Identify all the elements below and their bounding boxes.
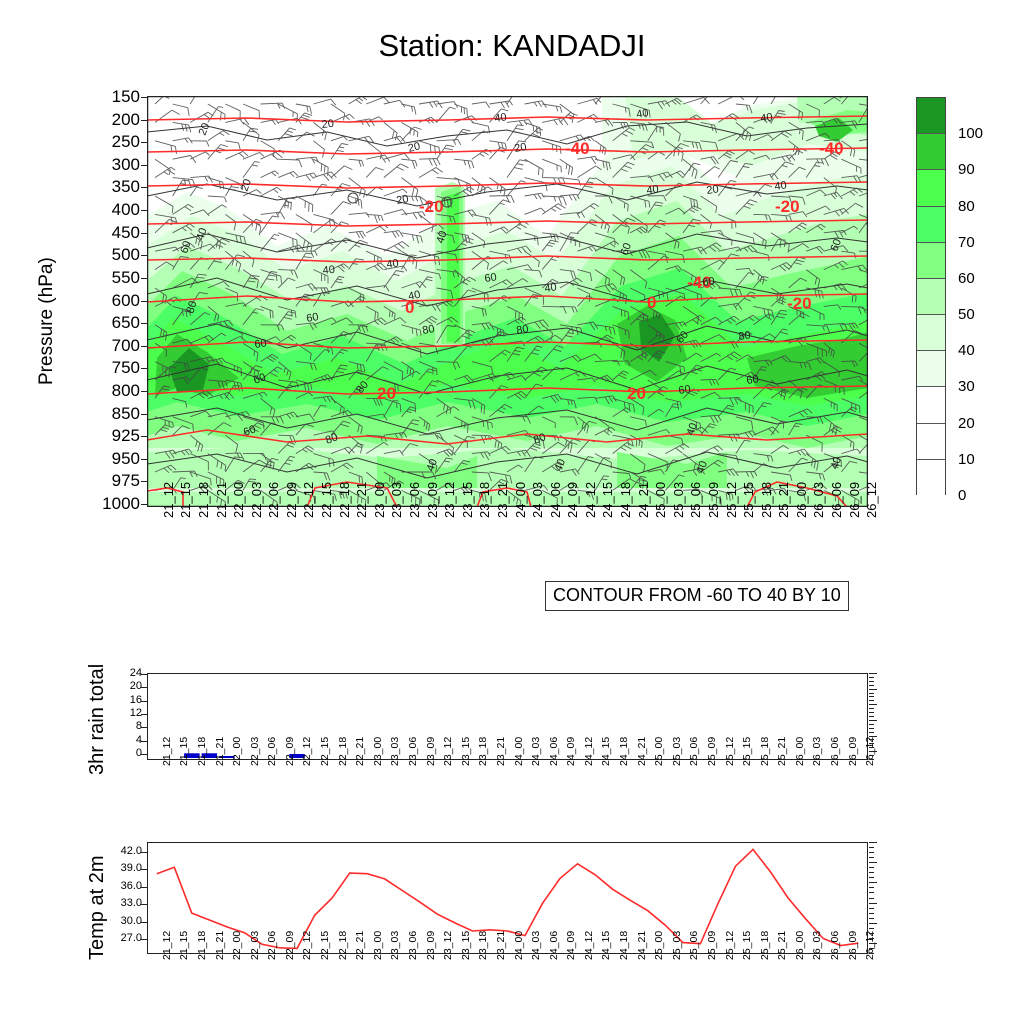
x-axis-tick: 23_06 — [407, 482, 422, 518]
svg-text:-20: -20 — [787, 294, 812, 313]
colorbar-label: 40 — [958, 343, 975, 358]
x-axis-tick: 26_06 — [829, 931, 841, 960]
x-axis-tick: 23_21 — [495, 482, 510, 518]
main-y-tick: 650 — [78, 314, 140, 331]
x-axis-tick: 22_06 — [266, 482, 281, 518]
svg-text:80: 80 — [738, 329, 752, 343]
x-axis-tick: 24_15 — [600, 482, 615, 518]
rain-y-tick: 16 — [118, 695, 142, 706]
x-axis-tick: 24_12 — [583, 931, 595, 960]
temp-y-tick: 36.0 — [104, 881, 142, 892]
panel-right-tickmark — [869, 903, 877, 904]
temp-y-tick: 39.0 — [104, 863, 142, 874]
colorbar-label: 70 — [958, 235, 975, 250]
svg-text:20: 20 — [321, 118, 334, 131]
x-axis-tick: 21_15 — [178, 737, 190, 766]
colorbar-swatch — [917, 387, 945, 423]
x-axis-tick: 24_18 — [618, 931, 630, 960]
x-axis-tick: 21_21 — [214, 931, 226, 960]
panel-right-tickmark — [869, 872, 874, 873]
temp-y-tick: 27.0 — [104, 933, 142, 944]
panel-right-tickmark — [869, 685, 874, 686]
panel-right-tickmark — [869, 696, 874, 697]
x-axis-tick: 24_09 — [565, 737, 577, 766]
svg-text:40: 40 — [494, 111, 508, 125]
rain-y-tick: 24 — [118, 668, 142, 679]
panel-right-tickmark — [869, 928, 874, 929]
x-axis-tick: 23_12 — [442, 482, 457, 518]
x-axis-tick: 22_00 — [231, 931, 243, 960]
x-axis-tick: 25_15 — [741, 482, 756, 518]
x-axis-tick: 26_00 — [794, 931, 806, 960]
colorbar-label: 20 — [958, 416, 975, 431]
temp-y-tick: 42.0 — [104, 846, 142, 857]
svg-text:80: 80 — [421, 323, 435, 337]
svg-text:-20: -20 — [775, 197, 800, 216]
panel-right-tickmark — [869, 704, 877, 705]
colorbar-label: 0 — [958, 488, 966, 503]
panel-right-tickmark — [869, 908, 874, 909]
main-y-tick: 950 — [78, 450, 140, 467]
main-y-tick: 800 — [78, 382, 140, 399]
svg-text:60: 60 — [305, 311, 319, 325]
x-axis-tick: 24_21 — [636, 737, 648, 766]
x-axis-tick: 23_09 — [425, 737, 437, 766]
x-axis-tick: 21_18 — [196, 482, 211, 518]
x-axis-tick: 22_21 — [354, 931, 366, 960]
x-axis-tick: 22_03 — [249, 931, 261, 960]
colorbar-label: 100 — [958, 126, 983, 141]
x-axis-tick: 24_03 — [530, 482, 545, 518]
x-axis-tick: 24_00 — [513, 737, 525, 766]
x-axis-tick: 26_00 — [794, 482, 809, 518]
colorbar-swatch — [917, 170, 945, 206]
x-axis-tick: 26_09 — [847, 482, 862, 518]
x-axis-tick: 21_21 — [214, 737, 226, 766]
x-axis-tick: 22_18 — [337, 482, 352, 518]
x-axis-tick: 22_00 — [231, 737, 243, 766]
colorbar-swatch — [917, 207, 945, 243]
x-axis-tick: 25_00 — [653, 737, 665, 766]
panel-right-tickmark — [869, 953, 874, 954]
main-y-tick: 1000 — [78, 495, 140, 512]
x-axis-tick: 22_09 — [284, 737, 296, 766]
x-axis-tick: 25_09 — [706, 482, 721, 518]
x-axis-tick: 23_06 — [407, 931, 419, 960]
x-axis-tick: 25_12 — [724, 482, 739, 518]
colorbar-label: 90 — [958, 162, 975, 177]
panel-right-tickmark — [869, 759, 874, 760]
x-axis-tick: 22_15 — [319, 931, 331, 960]
page-title: Station: KANDADJI — [0, 28, 1024, 64]
x-axis-tick: 25_06 — [688, 482, 703, 518]
colorbar-swatch — [917, 351, 945, 387]
svg-text:40: 40 — [635, 107, 649, 121]
panel-right-tickmark — [869, 943, 877, 944]
x-axis-tick: 22_12 — [301, 931, 313, 960]
panel-right-tickmark — [869, 693, 874, 694]
x-axis-tick: 21_12 — [161, 931, 173, 960]
x-axis-tick: 21_18 — [196, 931, 208, 960]
rain-y-tick: 4 — [118, 735, 142, 746]
main-y-tick: 150 — [78, 88, 140, 105]
panel-right-tickmark — [869, 732, 874, 733]
main-y-axis-label: Pressure (hPa) — [36, 257, 58, 385]
panel-right-tickmark — [869, 892, 874, 893]
colorbar-swatch — [917, 134, 945, 170]
x-axis-tick: 26_06 — [829, 482, 844, 518]
x-axis-tick: 25_12 — [724, 931, 736, 960]
x-axis-tick: 22_06 — [266, 737, 278, 766]
x-axis-tick: 23_09 — [425, 931, 437, 960]
panel-right-tickmark — [869, 948, 874, 949]
x-axis-tick: 26_03 — [811, 931, 823, 960]
rain-y-tick: 20 — [118, 681, 142, 692]
main-y-tick: 350 — [78, 178, 140, 195]
svg-text:60: 60 — [484, 271, 498, 285]
colorbar — [916, 97, 946, 495]
panel-right-tickmark — [869, 743, 874, 744]
x-axis-tick: 24_12 — [583, 737, 595, 766]
rain-y-axis-label: 3hr rain total — [86, 664, 109, 775]
x-axis-tick: 21_15 — [178, 482, 193, 518]
x-axis-tick: 25_18 — [759, 931, 771, 960]
svg-text:40: 40 — [774, 179, 788, 193]
panel-right-tickmark — [869, 847, 874, 848]
x-axis-tick: 21_18 — [196, 737, 208, 766]
x-axis-tick: 22_18 — [337, 737, 349, 766]
panel-right-tickmark — [869, 852, 874, 853]
main-y-tick: 300 — [78, 156, 140, 173]
x-axis-tick: 25_09 — [706, 737, 718, 766]
x-axis-tick: 22_15 — [319, 482, 334, 518]
x-axis-tick: 24_15 — [600, 931, 612, 960]
x-axis-tick: 22_21 — [354, 482, 369, 518]
panel-right-tickmark — [869, 755, 874, 756]
panel-right-tickmark — [869, 681, 874, 682]
svg-text:20: 20 — [395, 193, 409, 207]
x-axis-tick: 25_21 — [776, 482, 791, 518]
x-axis-tick: 25_06 — [688, 737, 700, 766]
panel-right-tickmark — [869, 913, 874, 914]
x-axis-tick: 25_03 — [671, 931, 683, 960]
x-axis-tick: 25_15 — [741, 931, 753, 960]
x-axis-tick: 22_18 — [337, 931, 349, 960]
panel-right-tickmark — [869, 716, 874, 717]
main-y-tick: 850 — [78, 405, 140, 422]
panel-right-tickmark — [869, 708, 874, 709]
x-axis-tick: 22_12 — [301, 737, 313, 766]
x-axis-tick: 24_12 — [583, 482, 598, 518]
colorbar-swatch — [917, 424, 945, 460]
temp-y-tick: 33.0 — [104, 898, 142, 909]
x-axis-tick: 23_03 — [389, 482, 404, 518]
contour-caption: CONTOUR FROM -60 TO 40 BY 10 — [545, 581, 849, 611]
x-axis-tick: 24_09 — [565, 931, 577, 960]
x-axis-tick: 26_12 — [864, 482, 879, 518]
x-axis-tick: 22_21 — [354, 737, 366, 766]
colorbar-swatch — [917, 279, 945, 315]
main-y-tick: 400 — [78, 201, 140, 218]
x-axis-tick: 22_09 — [284, 931, 296, 960]
x-axis-tick: 25_03 — [671, 482, 686, 518]
x-axis-tick: 23_09 — [425, 482, 440, 518]
panel-right-tickmark — [869, 923, 877, 924]
x-axis-tick: 23_03 — [389, 931, 401, 960]
x-axis-tick: 22_03 — [249, 482, 264, 518]
x-axis-tick: 22_06 — [266, 931, 278, 960]
x-axis-tick: 23_06 — [407, 737, 419, 766]
colorbar-swatch — [917, 243, 945, 279]
x-axis-tick: 24_15 — [600, 737, 612, 766]
main-y-tick: 750 — [78, 359, 140, 376]
panel-right-tickmark — [869, 857, 874, 858]
colorbar-swatch — [917, 98, 945, 134]
svg-text:20: 20 — [627, 384, 646, 403]
x-axis-tick: 24_09 — [565, 482, 580, 518]
panel-right-tickmark — [869, 728, 874, 729]
x-axis-tick: 22_15 — [319, 737, 331, 766]
panel-right-tickmark — [869, 887, 874, 888]
svg-text:-20: -20 — [419, 197, 444, 216]
main-y-tick: 925 — [78, 427, 140, 444]
panel-right-tickmark — [869, 933, 874, 934]
panel-right-tickmark — [869, 673, 877, 674]
colorbar-swatch — [917, 460, 945, 496]
x-axis-tick: 25_06 — [688, 931, 700, 960]
panel-right-tickmark — [869, 689, 877, 690]
x-axis-tick: 23_18 — [477, 482, 492, 518]
x-axis-tick: 23_21 — [495, 737, 507, 766]
x-axis-tick: 25_21 — [776, 931, 788, 960]
x-axis-tick: 24_18 — [618, 737, 630, 766]
x-axis-tick: 26_03 — [811, 737, 823, 766]
x-axis-tick: 25_00 — [653, 482, 668, 518]
x-axis-tick: 25_12 — [724, 737, 736, 766]
x-axis-tick: 25_18 — [759, 482, 774, 518]
x-axis-tick: 24_00 — [513, 482, 528, 518]
svg-text:-40: -40 — [565, 139, 590, 158]
x-axis-tick: 26_12 — [864, 931, 876, 960]
x-axis-tick: 25_03 — [671, 737, 683, 766]
panel-right-tickmark — [869, 739, 874, 740]
x-axis-tick: 25_21 — [776, 737, 788, 766]
panel-right-tickmark — [869, 677, 874, 678]
svg-text:40: 40 — [322, 264, 335, 277]
colorbar-label: 10 — [958, 452, 975, 467]
x-axis-tick: 24_00 — [513, 931, 525, 960]
colorbar-label: 80 — [958, 199, 975, 214]
svg-text:80: 80 — [515, 323, 529, 337]
x-axis-tick: 23_00 — [372, 931, 384, 960]
rain-y-tick: 12 — [118, 708, 142, 719]
panel-right-tickmark — [869, 724, 874, 725]
svg-text:0: 0 — [647, 293, 656, 312]
main-y-tick: 975 — [78, 472, 140, 489]
x-axis-tick: 26_09 — [847, 737, 859, 766]
svg-text:60: 60 — [678, 383, 692, 397]
svg-text:40: 40 — [386, 257, 400, 271]
x-axis-tick: 25_00 — [653, 931, 665, 960]
svg-text:60: 60 — [702, 275, 716, 289]
svg-text:20: 20 — [377, 384, 396, 403]
svg-text:-40: -40 — [819, 139, 844, 158]
x-axis-tick: 24_06 — [548, 737, 560, 766]
x-axis-tick: 24_03 — [530, 737, 542, 766]
rain-y-tick: 8 — [118, 721, 142, 732]
panel-right-tickmark — [869, 938, 874, 939]
x-axis-tick: 25_18 — [759, 737, 771, 766]
figure-root: Station: KANDADJI Pressure (hPa) 1502002… — [0, 0, 1024, 1024]
svg-text:40: 40 — [407, 289, 421, 303]
main-y-tick: 600 — [78, 292, 140, 309]
colorbar-swatch — [917, 315, 945, 351]
x-axis-tick: 23_15 — [460, 482, 475, 518]
svg-text:20: 20 — [706, 183, 720, 197]
main-y-tick: 200 — [78, 111, 140, 128]
x-axis-tick: 23_00 — [372, 482, 387, 518]
x-axis-tick: 23_12 — [442, 931, 454, 960]
panel-right-tickmark — [869, 720, 877, 721]
panel-right-tickmark — [869, 747, 874, 748]
x-axis-tick: 26_03 — [811, 482, 826, 518]
svg-text:60: 60 — [254, 337, 268, 351]
main-y-tick: 500 — [78, 246, 140, 263]
main-y-tick: 450 — [78, 224, 140, 241]
panel-right-tickmark — [869, 877, 874, 878]
svg-text:20: 20 — [513, 141, 527, 155]
x-axis-tick: 26_06 — [829, 737, 841, 766]
main-y-tick: 250 — [78, 133, 140, 150]
x-axis-tick: 24_18 — [618, 482, 633, 518]
x-axis-tick: 21_12 — [161, 737, 173, 766]
panel-right-tickmark — [869, 736, 877, 737]
panel-right-tickmark — [869, 700, 874, 701]
x-axis-tick: 21_12 — [161, 482, 176, 518]
x-axis-tick: 26_09 — [847, 931, 859, 960]
x-axis-tick: 23_15 — [460, 931, 472, 960]
rain-y-tick: 0 — [118, 748, 142, 759]
x-axis-tick: 23_18 — [477, 931, 489, 960]
panel-right-tickmark — [869, 862, 877, 863]
x-axis-tick: 21_21 — [214, 482, 229, 518]
colorbar-label: 30 — [958, 379, 975, 394]
humidity-contour-plot: -40 -40 -40 -20 -20 -20 0 0 20 20 20 20 … — [147, 96, 868, 507]
svg-text:40: 40 — [544, 281, 558, 295]
panel-right-tickmark — [869, 882, 877, 883]
panel-right-tickmark — [869, 898, 874, 899]
colorbar-label: 60 — [958, 271, 975, 286]
x-axis-tick: 22_12 — [301, 482, 316, 518]
x-axis-tick: 24_06 — [548, 931, 560, 960]
x-axis-tick: 24_03 — [530, 931, 542, 960]
panel-right-tickmark — [869, 842, 877, 843]
colorbar-label: 50 — [958, 307, 975, 322]
main-y-tick: 700 — [78, 337, 140, 354]
svg-text:40: 40 — [646, 183, 660, 197]
x-axis-tick: 23_00 — [372, 737, 384, 766]
x-axis-tick: 23_15 — [460, 737, 472, 766]
svg-text:60: 60 — [746, 373, 760, 387]
x-axis-tick: 23_03 — [389, 737, 401, 766]
x-axis-tick: 23_18 — [477, 737, 489, 766]
panel-right-tickmark — [869, 867, 874, 868]
x-axis-tick: 22_03 — [249, 737, 261, 766]
x-axis-tick: 25_09 — [706, 931, 718, 960]
x-axis-tick: 25_15 — [741, 737, 753, 766]
panel-right-tickmark — [869, 712, 874, 713]
svg-text:40: 40 — [760, 111, 774, 125]
x-axis-tick: 24_06 — [548, 482, 563, 518]
x-axis-tick: 23_12 — [442, 737, 454, 766]
x-axis-tick: 22_09 — [284, 482, 299, 518]
x-axis-tick: 23_21 — [495, 931, 507, 960]
x-axis-tick: 21_15 — [178, 931, 190, 960]
temp-y-tick: 30.0 — [104, 916, 142, 927]
x-axis-tick: 24_21 — [636, 931, 648, 960]
x-axis-tick: 26_00 — [794, 737, 806, 766]
panel-right-tickmark — [869, 751, 877, 752]
panel-right-tickmark — [869, 918, 874, 919]
x-axis-tick: 24_21 — [636, 482, 651, 518]
main-y-tick: 550 — [78, 269, 140, 286]
x-axis-tick: 22_00 — [231, 482, 246, 518]
